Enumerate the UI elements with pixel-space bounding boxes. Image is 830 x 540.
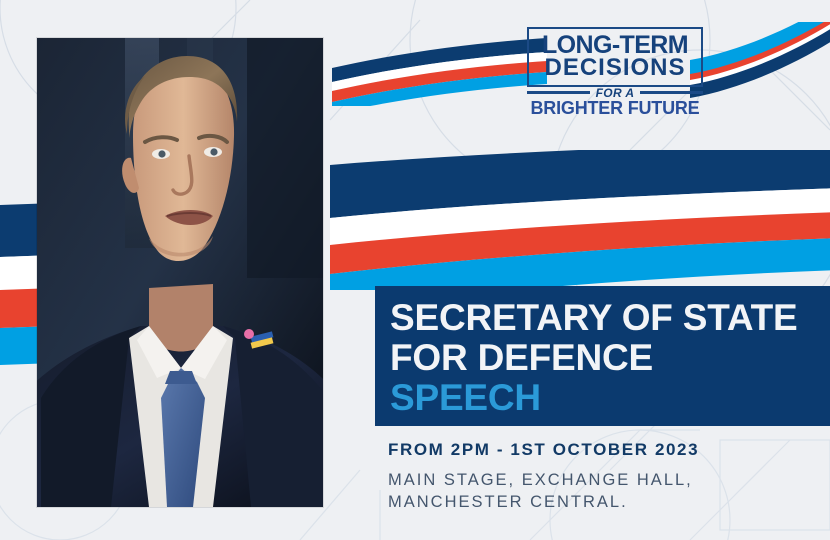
- headline-line-1: SECRETARY OF STATE: [390, 298, 830, 338]
- event-datetime: FROM 2PM - 1ST OCTOBER 2023: [388, 440, 828, 460]
- logo-line-2: DECISIONS: [527, 55, 703, 81]
- logo-line-4: BRIGHTER FUTURE: [527, 99, 703, 118]
- logo-rule-right: [640, 91, 703, 94]
- speaker-photo: [37, 38, 323, 507]
- headline-panel: SECRETARY OF STATE FOR DEFENCE SPEECH: [375, 286, 830, 426]
- poster-canvas: SECRETARY OF STATE FOR DEFENCE SPEECH FR…: [0, 0, 830, 540]
- headline-line-3: SPEECH: [390, 378, 830, 418]
- top-left-swoosh: [332, 36, 547, 106]
- headline-text: SECRETARY OF STATE FOR DEFENCE SPEECH: [390, 298, 830, 418]
- logo-rule-left: [527, 91, 590, 94]
- main-swoosh-band: [330, 150, 830, 290]
- headline-line-2: FOR DEFENCE: [390, 338, 830, 378]
- event-venue-line-1: MAIN STAGE, EXCHANGE HALL,: [388, 469, 828, 491]
- event-details: FROM 2PM - 1ST OCTOBER 2023 MAIN STAGE, …: [388, 440, 828, 513]
- top-right-swoosh: [690, 22, 830, 114]
- event-venue-line-2: MANCHESTER CENTRAL.: [388, 491, 828, 513]
- campaign-logo: LONG-TERM DECISIONS FOR A BRIGHTER FUTUR…: [527, 27, 703, 115]
